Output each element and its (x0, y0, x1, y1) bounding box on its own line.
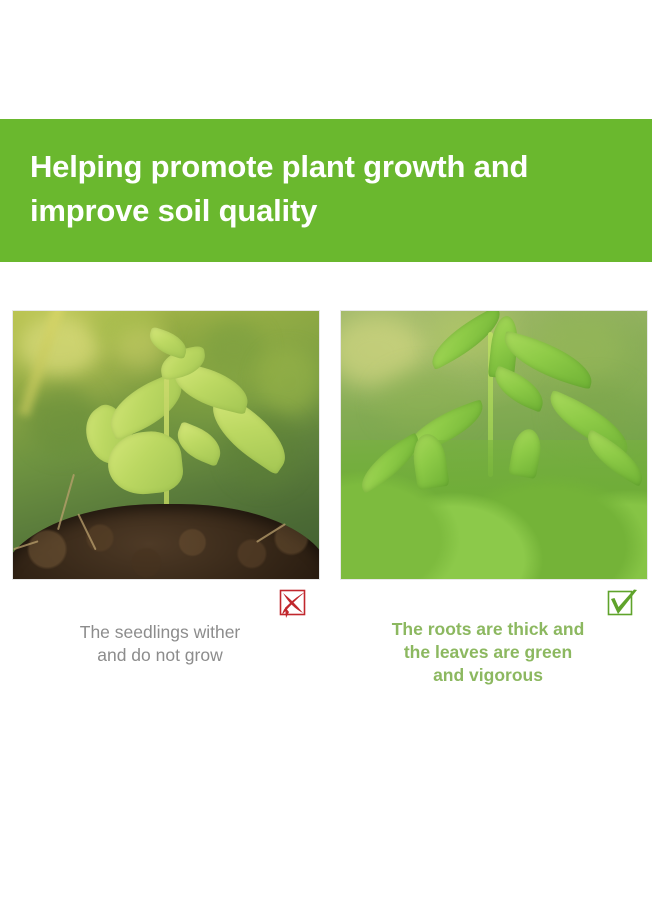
photo-positive-canvas (341, 311, 647, 579)
caption-row: The seedlings wither and do not grow The… (0, 585, 660, 705)
photo-positive-tea-leaves (340, 310, 648, 580)
caption-negative-text: The seedlings wither and do not grow (0, 585, 320, 667)
seedling-background (13, 311, 319, 579)
comparison-photo-row (12, 310, 648, 580)
bokeh-blob (28, 386, 95, 456)
photo-negative-seedling (12, 310, 320, 580)
photo-negative-canvas (13, 311, 319, 579)
soil-mound (13, 504, 319, 579)
product-feature-page: Helping promote plant growth and improve… (0, 0, 660, 900)
caption-positive-text: The roots are thick and the leaves are g… (328, 585, 648, 687)
headline-banner: Helping promote plant growth and improve… (0, 119, 652, 262)
bokeh-blob (203, 322, 264, 376)
bokeh-blob (19, 316, 99, 375)
caption-negative: The seedlings wither and do not grow (0, 585, 320, 667)
tea-background (341, 311, 647, 579)
bokeh-blob (258, 349, 319, 413)
caption-positive: The roots are thick and the leaves are g… (328, 585, 648, 687)
banner-headline: Helping promote plant growth and improve… (30, 145, 622, 233)
